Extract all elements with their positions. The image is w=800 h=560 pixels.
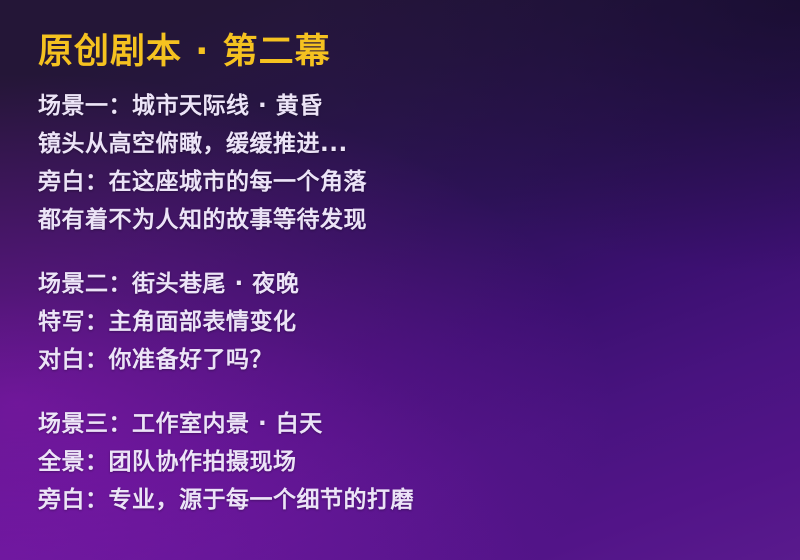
scene-detail-line: 特写：主角面部表情变化 — [38, 303, 780, 341]
scene-heading-line: 场景二：街头巷尾 · 夜晚 — [38, 265, 780, 303]
scene-detail-line: 全景：团队协作拍摄现场 — [38, 443, 780, 481]
scene-heading-line: 场景三：工作室内景 · 白天 — [38, 405, 780, 443]
scene-detail-line: 对白：你准备好了吗？ — [38, 341, 780, 379]
slide-content: 原创剧本 · 第二幕 场景一：城市天际线 · 黄昏 镜头从高空俯瞰，缓缓推进..… — [38, 30, 780, 550]
scene-block-1: 场景一：城市天际线 · 黄昏 镜头从高空俯瞰，缓缓推进... 旁白：在这座城市的… — [38, 87, 780, 239]
scene-detail-line: 旁白：在这座城市的每一个角落 — [38, 163, 780, 201]
scene-block-3: 场景三：工作室内景 · 白天 全景：团队协作拍摄现场 旁白：专业，源于每一个细节… — [38, 405, 780, 519]
script-slide-canvas: 原创剧本 · 第二幕 场景一：城市天际线 · 黄昏 镜头从高空俯瞰，缓缓推进..… — [0, 0, 800, 560]
page-title: 原创剧本 · 第二幕 — [38, 30, 780, 75]
scene-heading-line: 场景一：城市天际线 · 黄昏 — [38, 87, 780, 125]
scene-detail-line: 都有着不为人知的故事等待发现 — [38, 201, 780, 239]
scene-block-2: 场景二：街头巷尾 · 夜晚 特写：主角面部表情变化 对白：你准备好了吗？ — [38, 265, 780, 379]
scene-detail-line: 旁白：专业，源于每一个细节的打磨 — [38, 481, 780, 519]
scene-detail-line: 镜头从高空俯瞰，缓缓推进... — [38, 125, 780, 163]
